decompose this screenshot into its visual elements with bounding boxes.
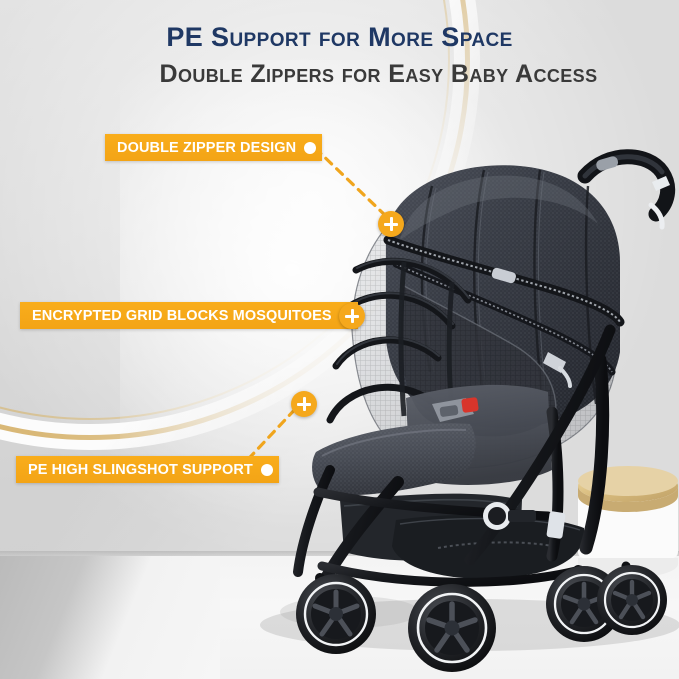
callout-badge-mosquito-grid[interactable]: ENCRYPTED GRID BLOCKS MOSQUITOES	[20, 302, 358, 329]
product-infographic: PE Support for More Space Double Zippers…	[0, 0, 679, 679]
callout-badge-double-zipper[interactable]: DOUBLE ZIPPER DESIGN	[105, 134, 322, 161]
plus-marker-pe-support[interactable]	[291, 391, 317, 417]
headline-block: PE Support for More Space Double Zippers…	[0, 22, 679, 89]
page-subtitle: Double Zippers for Easy Baby Access	[0, 60, 679, 89]
page-title: PE Support for More Space	[0, 22, 679, 53]
wheel-front-left	[408, 584, 496, 672]
wheel-front-right	[597, 565, 667, 635]
callout-label-1: DOUBLE ZIPPER DESIGN	[117, 140, 296, 156]
callout-badge-pe-support[interactable]: PE HIGH SLINGSHOT SUPPORT	[16, 456, 279, 483]
callout-label-2: ENCRYPTED GRID BLOCKS MOSQUITOES	[32, 308, 332, 324]
plus-marker-canopy-zipper[interactable]	[378, 211, 404, 237]
plus-marker-mosquito-net[interactable]	[339, 303, 365, 329]
stroller-illustration	[0, 0, 679, 679]
callout-anchor-dot-1	[304, 142, 316, 154]
callout-anchor-dot-3	[261, 464, 273, 476]
wheel-rear-left	[296, 574, 376, 654]
callout-label-3: PE HIGH SLINGSHOT SUPPORT	[28, 462, 253, 478]
